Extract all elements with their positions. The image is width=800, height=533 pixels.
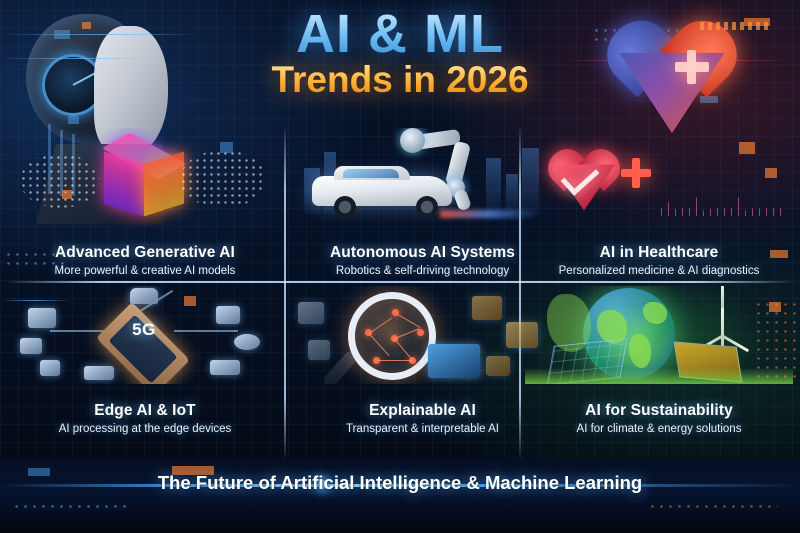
card-subtitle: Robotics & self-driving technology [290,265,555,277]
card-title: Edge AI & IoT [10,402,280,420]
grid-divider-vertical [284,128,286,458]
card-explainable-ai[interactable]: Explainable AI Transparent & interpretab… [290,286,555,439]
iot-device [216,306,240,324]
card-art [290,128,555,226]
page-subtitle: Trends in 2026 [0,60,800,101]
hud-dots [12,502,132,514]
iot-device [20,338,42,354]
card-art [525,128,793,226]
heart-medical-icon [547,146,621,212]
card-art: 5G [10,286,280,384]
card-labels: Autonomous AI Systems Robotics & self-dr… [290,244,555,277]
iot-device [84,366,114,380]
card-labels: Edge AI & IoT AI processing at the edge … [10,402,280,435]
medical-cross-icon [621,158,651,188]
card-subtitle: Personalized medicine & AI diagnostics [525,265,793,277]
card-subtitle: Transparent & interpretable AI [290,423,555,435]
card-ai-for-sustainability[interactable]: AI for Sustainability AI for climate & e… [525,286,793,439]
neon-cube-icon [98,134,184,220]
iot-device [234,334,260,350]
card-labels: Explainable AI Transparent & interpretab… [290,402,555,435]
card-subtitle: More powerful & creative AI models [10,265,280,277]
iot-device [210,360,240,375]
card-art [290,286,555,384]
card-subtitle: AI processing at the edge devices [10,423,280,435]
card-labels: AI for Sustainability AI for climate & e… [525,402,793,435]
card-edge-ai-iot[interactable]: 5G Edge AI & IoT AI processing at the ed… [10,286,280,439]
card-title: Explainable AI [290,402,555,420]
card-art [525,286,793,384]
poster-footer: The Future of Artificial Intelligence & … [0,458,800,533]
card-art [10,128,280,226]
card-ai-in-healthcare[interactable]: AI in Healthcare Personalized medicine &… [525,128,793,281]
page-title: AI & ML [0,6,800,62]
card-title: Advanced Generative AI [10,244,280,262]
infographic-poster: AI & ML Trends in 2026 Advanced Generati… [0,0,800,533]
card-title: AI for Sustainability [525,402,793,420]
poster-header: AI & ML Trends in 2026 [0,0,800,128]
card-labels: Advanced Generative AI More powerful & c… [10,244,280,277]
card-labels: AI in Healthcare Personalized medicine &… [525,244,793,277]
ecg-waveform [655,190,781,216]
card-title: Autonomous AI Systems [290,244,555,262]
magnifier-network-icon [348,292,436,380]
card-subtitle: AI for climate & energy solutions [525,423,793,435]
card-autonomous-ai-systems[interactable]: Autonomous AI Systems Robotics & self-dr… [290,128,555,281]
trends-grid: Advanced Generative AI More powerful & c… [0,128,800,458]
card-title: AI in Healthcare [525,244,793,262]
hud-dots [648,502,778,514]
chip-label: 5G [122,320,166,340]
iot-device [40,360,60,376]
title-block: AI & ML Trends in 2026 [0,6,800,101]
grid-divider-horizontal [8,281,792,283]
card-advanced-generative-ai[interactable]: Advanced Generative AI More powerful & c… [10,128,280,281]
iot-device [28,308,56,328]
iot-device [130,288,158,304]
footer-tagline: The Future of Artificial Intelligence & … [0,472,800,494]
